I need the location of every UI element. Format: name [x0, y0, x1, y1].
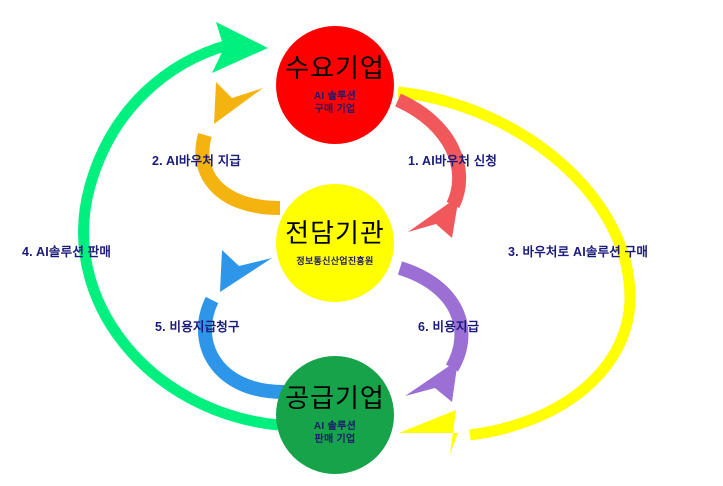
node-supply[interactable]: 공급기업 AI 솔루션 판매 기업 [276, 356, 394, 474]
edge-3-arrow [398, 92, 630, 454]
node-demand-title: 수요기업 [285, 54, 385, 83]
node-demand-subtitle: AI 솔루션 구매 기업 [314, 91, 356, 116]
edge-label-4: 4. AI솔루션 판매 [22, 241, 111, 260]
diagram-canvas: 수요기업 AI 솔루션 구매 기업 전담기관 정보통신산업진흥원 공급기업 AI… [0, 0, 723, 486]
node-demand[interactable]: 수요기업 AI 솔루션 구매 기업 [276, 26, 394, 144]
edge-2-arrow [202, 82, 280, 208]
edge-1-arrow [398, 100, 459, 238]
edge-label-2: 2. AI바우처 지급 [152, 150, 241, 169]
node-agency-title: 전담기관 [285, 219, 385, 248]
node-supply-title: 공급기업 [285, 384, 385, 413]
edge-label-6: 6. 비용지급 [418, 316, 479, 335]
edge-label-1: 1. AI바우처 신청 [408, 150, 497, 169]
node-agency[interactable]: 전담기관 정보통신산업진흥원 [276, 184, 394, 302]
edge-6-arrow [400, 268, 461, 402]
node-agency-subtitle: 정보통신산업진흥원 [296, 256, 373, 267]
edge-4-arrow [84, 22, 278, 425]
edge-label-3: 3. 바우처로 AI솔루션 구매 [508, 241, 648, 260]
edge-label-5: 5. 비용지급청구 [155, 316, 240, 335]
node-supply-subtitle: AI 솔루션 판매 기업 [314, 421, 356, 446]
